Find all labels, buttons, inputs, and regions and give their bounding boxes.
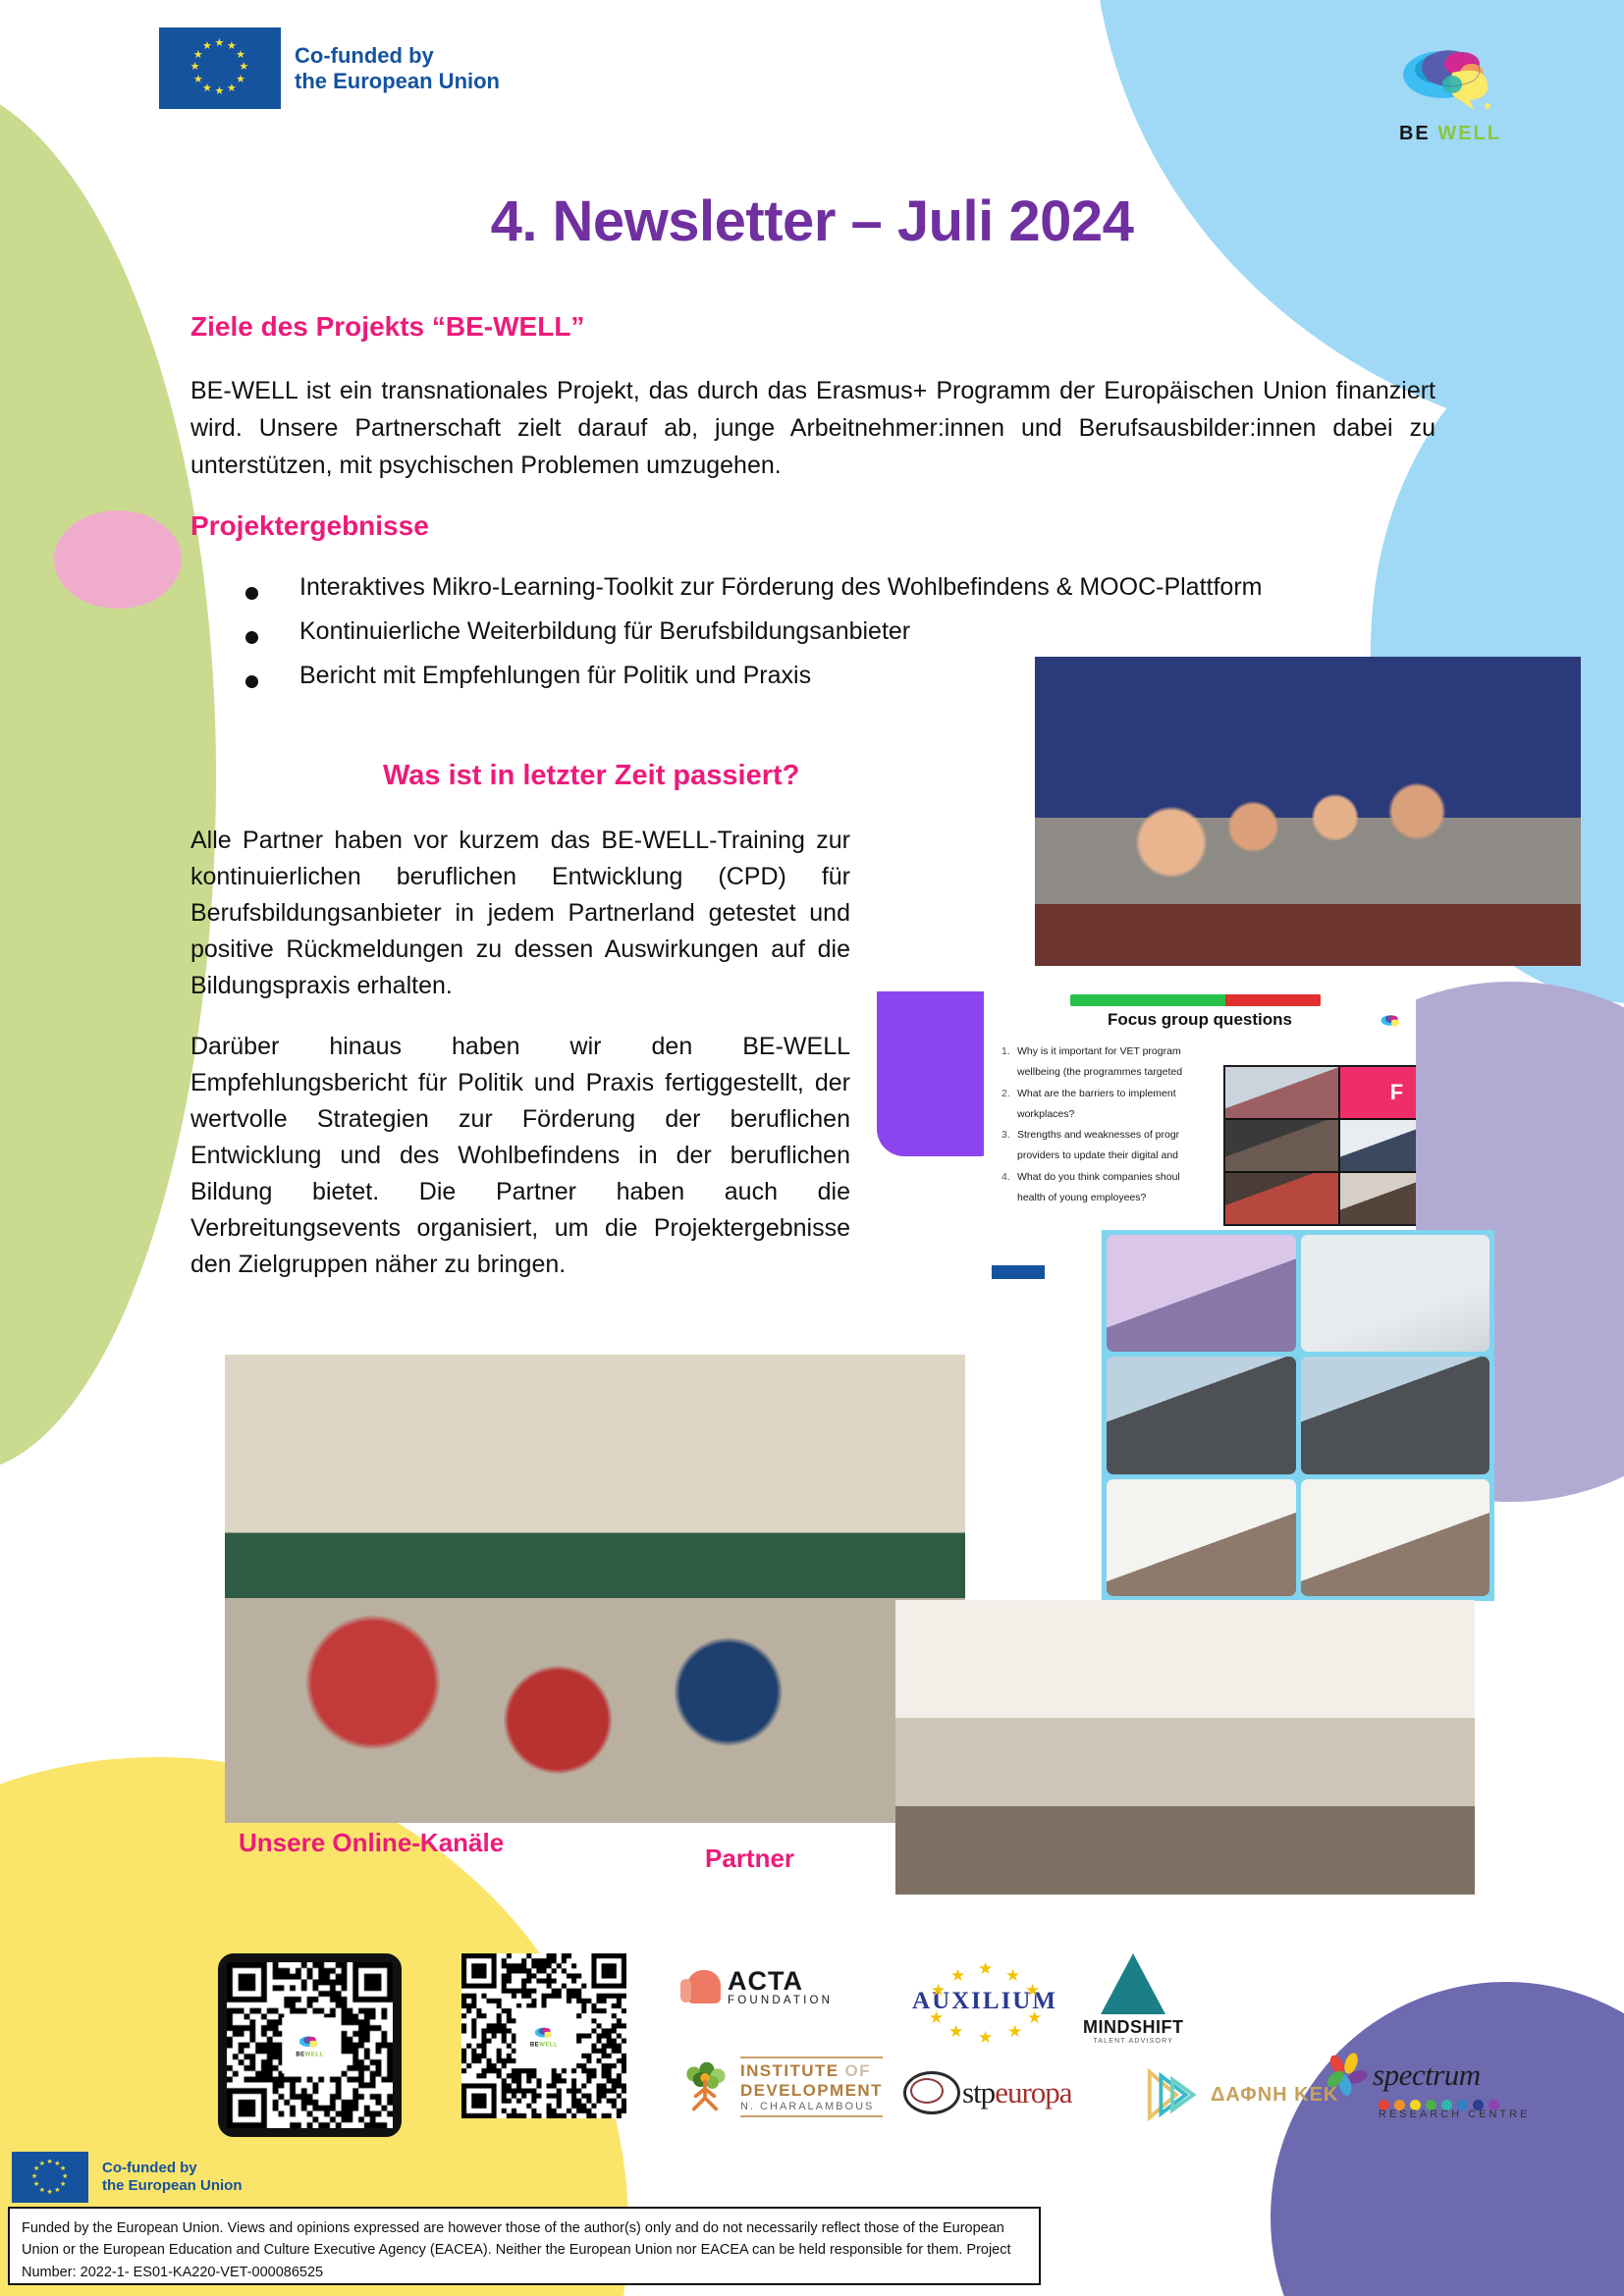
eu-logo-line1: Co-funded by	[295, 43, 500, 69]
eu-logo-line2: the European Union	[295, 69, 500, 94]
list-item: Interaktives Mikro-Learning-Toolkit zur …	[245, 575, 1404, 600]
partner-logo-mindshift: MINDSHIFT TALENT ADVISORY	[1083, 1953, 1184, 2045]
partner-logo-institute-of-development: INSTITUTE OF DEVELOPMENT N. CHARALAMBOUS	[677, 2056, 883, 2117]
collage-photo	[1301, 1357, 1490, 1473]
partner-logo-stpeuropa: stpeuropa	[903, 2071, 1072, 2114]
footer-disclaimer: Funded by the European Union. Views and …	[8, 2207, 1041, 2285]
participant-tile	[1340, 1120, 1416, 1171]
star-icon: ★	[1027, 2009, 1042, 2026]
participant-tile	[1225, 1067, 1338, 1118]
partner-name: ACTA	[728, 1967, 833, 1995]
eu-cofunded-logo-bottom: ★★★★★★★★★★★★ Co-funded by the European U…	[12, 2152, 243, 2203]
partner-name: AUXILIUM	[882, 1988, 1088, 2015]
hand-icon	[687, 1970, 721, 2003]
triangle-icon	[1101, 1953, 1165, 2014]
collage-grid	[1102, 1230, 1494, 1601]
participant-tile	[1225, 1173, 1338, 1224]
photo-classroom-session	[225, 1355, 965, 1823]
photo-roundtable-meeting	[895, 1600, 1475, 1895]
photo-collage-events	[1102, 1230, 1494, 1601]
qr-code-website[interactable]: BEWELL	[218, 1953, 402, 2137]
star-icon: ★	[1025, 1982, 1040, 1999]
collage-row	[1107, 1235, 1489, 1352]
slide-eu-logo	[992, 1265, 1045, 1279]
section-heading-partners: Partner	[705, 1843, 794, 1874]
brain-speech-bubble-icon	[1391, 37, 1509, 116]
newsletter-page: ★★★★★★★★★★★★ Co-funded by the European U…	[0, 0, 1624, 2296]
collage-photo	[1107, 1479, 1296, 1596]
eu-cofunded-logo-top: ★★★★★★★★★★★★ Co-funded by the European U…	[159, 27, 500, 109]
eu-logo-line1: Co-funded by	[102, 2160, 243, 2177]
slide-title: Focus group questions	[984, 1010, 1416, 1030]
partner-name: ΔΑΦΝΗ ΚΕΚ	[1211, 2084, 1338, 2107]
collage-photo	[1301, 1479, 1490, 1596]
star-icon: ★	[978, 2029, 993, 2046]
section-heading-channels: Unsere Online-Kanäle	[239, 1828, 504, 1858]
qr-center-logo: BEWELL	[282, 2017, 338, 2073]
partner-logo-daphne-kek: ΔΑΦΝΗ ΚΕΚ	[1144, 2066, 1338, 2123]
page-title: 4. Newsletter – Juli 2024	[0, 188, 1624, 254]
section-heading-recent: Was ist in letzter Zeit passiert?	[383, 760, 799, 792]
decor-green-shape-left	[0, 79, 216, 1472]
partner-name-part1: stp	[962, 2075, 995, 2109]
list-item: Kontinuierliche Weiterbildung für Berufs…	[245, 619, 1404, 644]
star-icon: ★	[978, 1960, 993, 1977]
section-body-recent-1: Alle Partner haben vor kurzem das BE-WEL…	[190, 823, 850, 1004]
spectrum-top-row: spectrum	[1324, 2052, 1481, 2099]
bewell-small-icon	[1379, 1008, 1404, 1034]
collage-row	[1107, 1357, 1489, 1473]
star-icon: ★	[929, 2009, 944, 2026]
collage-photo	[1301, 1235, 1490, 1352]
screenshare-toolbar	[1070, 994, 1321, 1006]
partner-logo-auxilium: AUXILIUM ★ ★ ★ ★ ★ ★ ★ ★ ★ ★	[882, 1958, 1088, 2043]
partner-logo-spectrum: spectrum RESEARCH CENTRE	[1324, 2052, 1530, 2120]
section-body-goals: BE-WELL ist ein transnationales Projekt,…	[190, 372, 1435, 484]
photo-group-training	[1035, 657, 1581, 966]
eu-logo-text: Co-funded by the European Union	[102, 2160, 243, 2194]
star-icon: ★	[950, 1967, 965, 1984]
star-icon: ★	[1005, 1967, 1020, 1984]
qr-logo-wordmark: BEWELL	[530, 2042, 558, 2048]
participant-tile	[1225, 1120, 1338, 1171]
collage-photo	[1107, 1357, 1296, 1473]
qr-code-social[interactable]: BEWELL	[461, 1953, 626, 2118]
partner-logo-acta: ACTA FOUNDATION	[687, 1967, 833, 2006]
partner-name-line3: N. CHARALAMBOUS	[740, 2101, 883, 2112]
pinwheel-icon	[1324, 2052, 1373, 2099]
partner-subtitle: FOUNDATION	[728, 1995, 833, 2006]
partner-name-line1: INSTITUTE	[740, 2061, 839, 2080]
qr-logo-wordmark: BEWELL	[296, 2052, 323, 2057]
video-call-participant-grid: F	[1223, 1065, 1416, 1226]
speech-bubble-icon	[903, 2071, 960, 2114]
qr-center-logo: BEWELL	[515, 2007, 571, 2063]
eu-logo-text: Co-funded by the European Union	[295, 43, 500, 94]
eu-logo-line2: the European Union	[102, 2177, 243, 2195]
brand-be: BE	[1399, 123, 1431, 144]
partner-subtitle: TALENT ADVISORY	[1093, 2038, 1173, 2045]
collage-row	[1107, 1479, 1489, 1596]
partner-name: MINDSHIFT	[1083, 2017, 1184, 2038]
section-body-recent-2: Darüber hinaus haben wir den BE-WELL Emp…	[190, 1029, 850, 1283]
participant-tile	[1340, 1173, 1416, 1224]
bewell-mini-icon	[532, 2024, 556, 2041]
partner-subtitle: RESEARCH CENTRE	[1379, 2109, 1530, 2120]
arrow-chevron-icon	[1144, 2066, 1201, 2123]
tree-icon	[677, 2059, 732, 2114]
partner-name-of: OF	[839, 2061, 871, 2080]
decor-pink-ellipse	[54, 510, 182, 609]
star-icon: ★	[1007, 2023, 1022, 2040]
section-heading-goals: Ziele des Projekts “BE-WELL”	[190, 311, 584, 343]
decor-purple-circle-bottom	[1271, 1982, 1624, 2296]
slide-question-line: 1.Why is it important for VET program	[1001, 1043, 1296, 1059]
partner-name-part2: europa	[995, 2075, 1071, 2109]
eu-flag-icon: ★★★★★★★★★★★★	[159, 27, 281, 109]
section-heading-results: Projektergebnisse	[190, 510, 429, 542]
bewell-mini-icon	[297, 2033, 322, 2051]
bewell-logo: BE WELL	[1386, 37, 1514, 145]
eu-flag-icon: ★★★★★★★★★★★★	[12, 2152, 88, 2203]
participant-tile-initial: F	[1340, 1067, 1416, 1118]
collage-photo	[1107, 1235, 1296, 1352]
auxilium-mark: AUXILIUM ★ ★ ★ ★ ★ ★ ★ ★ ★ ★	[882, 1958, 1088, 2043]
partner-name: spectrum	[1373, 2057, 1481, 2093]
brand-well: WELL	[1437, 123, 1501, 144]
partner-name-line2: DEVELOPMENT	[740, 2081, 883, 2101]
star-icon: ★	[948, 2023, 963, 2040]
star-icon: ★	[931, 1982, 946, 1999]
bewell-wordmark: BE WELL	[1386, 123, 1514, 145]
